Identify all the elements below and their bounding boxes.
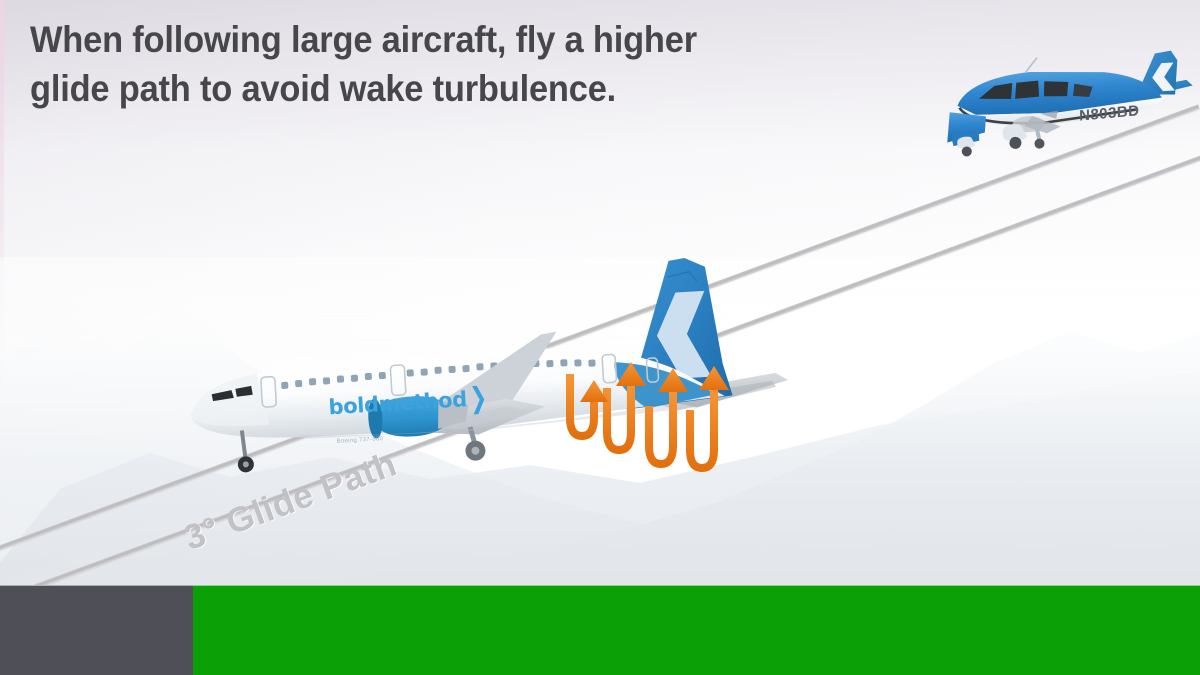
page-title: When following large aircraft, fly a hig… <box>30 16 811 114</box>
video-frame: 3° Glide Path <box>0 0 1200 675</box>
wake-turbulence-arrows <box>560 366 760 486</box>
headline-line-1: When following large aircraft, fly a hig… <box>30 16 811 65</box>
progress-remaining-segment[interactable] <box>193 585 1200 675</box>
headline-line-2: glide path to avoid wake turbulence. <box>30 65 811 114</box>
progress-elapsed-segment[interactable] <box>0 585 193 675</box>
progress-bar-top-hairline <box>0 585 1200 586</box>
small-aircraft-single-engine: N803BD <box>933 45 1200 184</box>
livery-chevron-icon: ❯ <box>469 381 488 414</box>
video-progress-bar[interactable] <box>0 585 1200 675</box>
